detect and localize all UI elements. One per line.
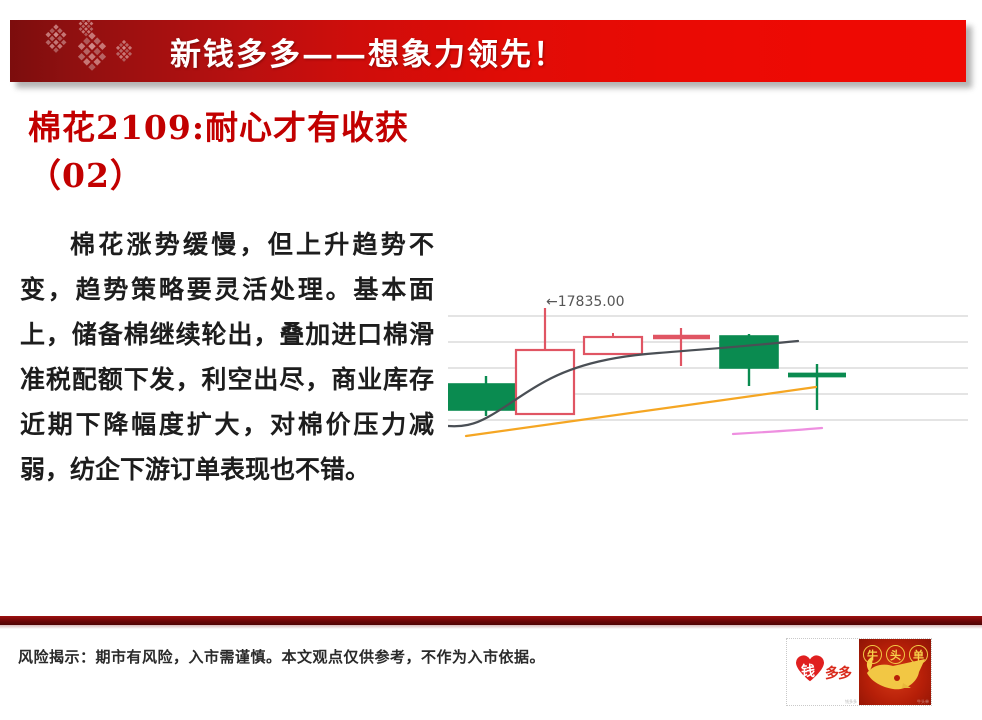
- banner-title: 新钱多多——想象力领先！: [170, 20, 566, 82]
- niutoudan-logo: 牛 头 单 牛头单: [859, 639, 931, 705]
- qianduoduo-corner-tag: 钱多多: [845, 699, 857, 705]
- banner-background: 新钱多多——想象力领先！: [10, 20, 966, 82]
- candle-3: [653, 328, 710, 366]
- candlestick-chart: ←17835.00: [448, 286, 968, 454]
- candle-1: [516, 308, 574, 415]
- disclaimer-text: 风险揭示：期市有风险，入市需谨慎。本文观点仅供参考，不作为入市依据。: [18, 646, 758, 667]
- qianduoduo-suffix: 多多: [825, 663, 851, 683]
- candle-0: [448, 376, 525, 416]
- price-annotation: ←17835.00: [546, 294, 625, 310]
- niutoudan-char-2: 单: [909, 645, 928, 664]
- footer-divider: [0, 616, 982, 625]
- chinese-knot-lattice-icon: [28, 20, 168, 82]
- qianduoduo-heart-char: 钱: [801, 661, 815, 681]
- header-banner: 新钱多多——想象力领先！: [10, 20, 966, 82]
- page-title: 棉花2109:耐心才有收获（02）: [28, 104, 428, 200]
- body-paragraph: 棉花涨势缓慢，但上升趋势不变，趋势策略要灵活处理。基本面上，储备棉继续轮出，叠加…: [20, 222, 434, 492]
- candle-2: [584, 333, 642, 354]
- slide-canvas: 新钱多多——想象力领先！ 棉花2109:耐心才有收获（02） 棉花涨势缓慢，但上…: [0, 0, 982, 720]
- qianduoduo-logo: 钱 多多 钱多多: [787, 639, 859, 705]
- niutoudan-characters: 牛 头 单: [863, 645, 928, 664]
- candle-4: [720, 334, 778, 386]
- footer-divider-shadow: [0, 625, 982, 629]
- logo-group: 钱 多多 钱多多 牛 头 单 牛头单: [786, 638, 932, 706]
- niutoudan-corner-tag: 牛头单: [917, 699, 929, 705]
- niutoudan-char-0: 牛: [863, 645, 882, 664]
- price-annotation-label: ←17835.00: [546, 294, 625, 310]
- ma-line-long: [733, 428, 822, 434]
- niutoudan-char-1: 头: [886, 645, 905, 664]
